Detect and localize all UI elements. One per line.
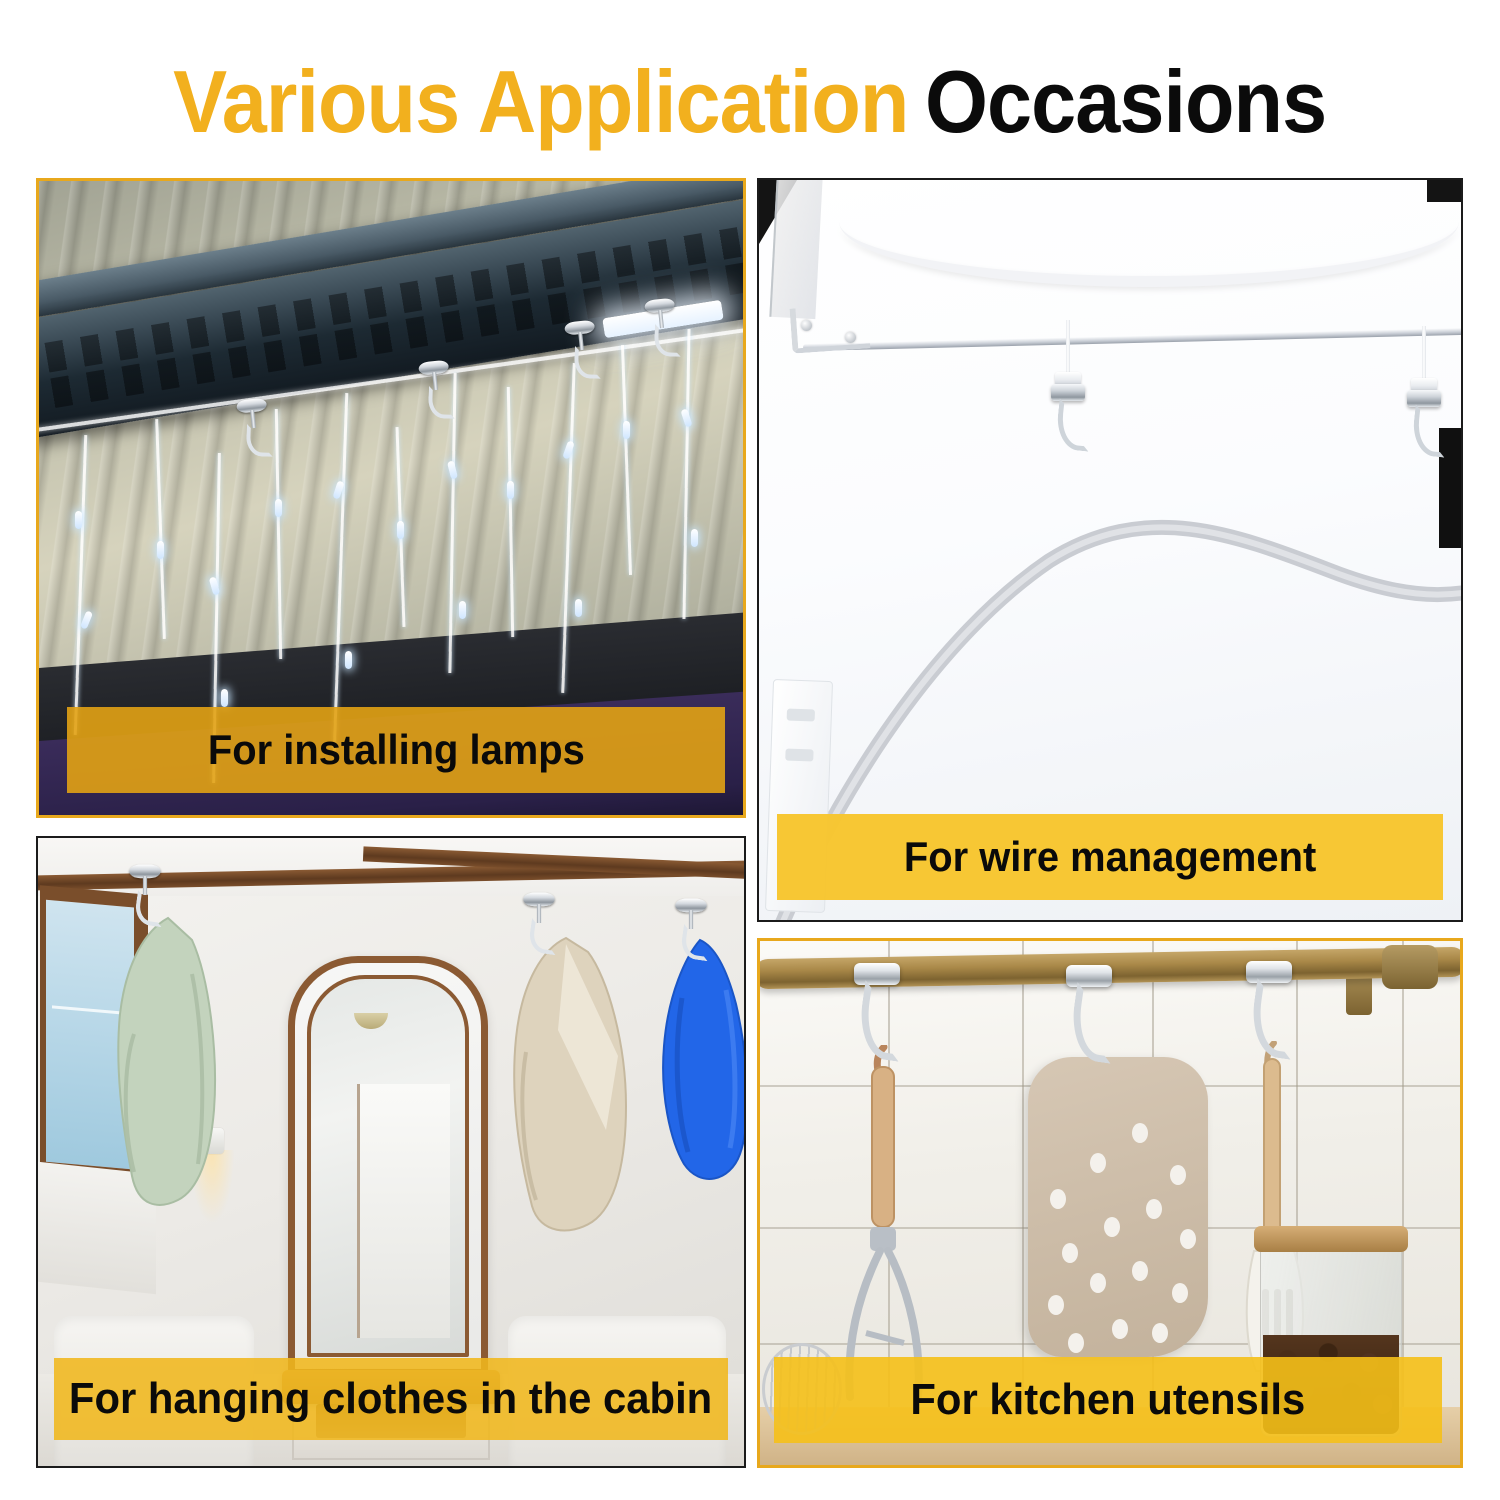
led-bulb [459, 601, 466, 619]
hook-j-curve [1410, 404, 1449, 457]
panel-hanging-clothes-cabin: For hanging clothes in the cabin [36, 836, 746, 1468]
hanging-blue-towel [652, 938, 744, 1193]
power-strip-socket [787, 709, 815, 722]
caption-wire-management: For wire management [777, 814, 1443, 900]
led-bulb [157, 541, 164, 559]
led-bulb [275, 499, 282, 517]
title-plain-text: Occasions [925, 52, 1326, 151]
magnetic-hook [854, 963, 900, 1071]
scene-white-studio [759, 180, 1461, 920]
mitt-dot [1146, 1199, 1162, 1219]
metal-tongs [838, 1045, 948, 1410]
backdrop-panel-edge [769, 180, 822, 319]
bracket-screw [801, 320, 812, 331]
caption-text: For hanging clothes in the cabin [69, 1377, 712, 1421]
page-title: Various ApplicationOccasions [0, 52, 1500, 152]
magnetic-hook [129, 865, 161, 926]
led-bulb [397, 521, 404, 539]
caption-text: For installing lamps [208, 729, 585, 771]
mitt-dot [1112, 1319, 1128, 1339]
hook-j-curve [527, 918, 560, 955]
panel-wire-management: For wire management [757, 178, 1463, 922]
led-bulb [507, 481, 514, 499]
hook-j-curve [133, 890, 166, 927]
magnetic-hook [1246, 961, 1292, 1069]
mitt-dot [1062, 1243, 1078, 1263]
caption-text: For kitchen utensils [911, 1378, 1306, 1422]
caption-text: For wire management [904, 836, 1316, 878]
mitt-dot [1048, 1295, 1064, 1315]
mitt-dot [1090, 1153, 1106, 1173]
hanging-beige-jacket [500, 934, 650, 1239]
panel-kitchen-utensils: For kitchen utensils [757, 938, 1463, 1468]
rail-end-cap [1382, 945, 1438, 989]
mitt-dot [1180, 1229, 1196, 1249]
polka-dot-oven-mitt [1028, 1057, 1208, 1357]
led-bulb [345, 651, 352, 669]
mitt-dot [1104, 1217, 1120, 1237]
mitt-dot [1132, 1123, 1148, 1143]
mitt-dot [1170, 1165, 1186, 1185]
hanging-sage-shirt [106, 914, 236, 1219]
mitt-dot [1068, 1333, 1084, 1353]
panel-installing-lamps: For installing lamps [36, 178, 746, 818]
magnetic-hook [564, 320, 600, 381]
rail-wall-mount [1346, 975, 1372, 1015]
magnetic-hook [675, 899, 707, 960]
mirror-reflection-doorway [357, 1084, 449, 1338]
hook-j-curve [428, 386, 456, 419]
hook-j-curve [654, 324, 682, 357]
mirror-reflection-ceiling-light [354, 1013, 388, 1029]
hook-j-curve [1054, 398, 1093, 451]
magnetic-hook [1407, 378, 1441, 456]
caption-installing-lamps: For installing lamps [67, 707, 725, 793]
magnetic-hook [523, 893, 555, 954]
hook-thread [1066, 320, 1070, 376]
power-strip-socket [785, 749, 813, 762]
mitt-dot [1090, 1273, 1106, 1293]
caption-kitchen-utensils: For kitchen utensils [774, 1357, 1442, 1443]
hook-j-curve [246, 424, 274, 457]
led-bulb [75, 511, 82, 529]
magnetic-hook [236, 398, 272, 459]
magnetic-hook [1051, 372, 1085, 450]
mitt-dot [1132, 1261, 1148, 1281]
hook-j-curve [574, 346, 602, 379]
led-bulb [691, 529, 698, 547]
bracket-screw [845, 332, 856, 343]
mitt-dot [1172, 1283, 1188, 1303]
led-bulb [623, 421, 630, 439]
arched-mirror [288, 956, 488, 1376]
title-accent-text: Various Application [173, 52, 908, 151]
bamboo-jar-lid [1254, 1226, 1408, 1252]
mitt-dot [1152, 1323, 1168, 1343]
mirror-inner-frame [307, 975, 469, 1357]
hook-j-curve [679, 924, 712, 961]
magnetic-hook [644, 298, 680, 359]
led-bulb [221, 689, 228, 707]
caption-hanging-clothes: For hanging clothes in the cabin [54, 1358, 728, 1440]
mitt-dot [1050, 1189, 1066, 1209]
led-bulb [575, 599, 582, 617]
hook-thread [1422, 326, 1426, 382]
magnetic-hook [418, 360, 454, 421]
magnetic-hook [1066, 965, 1112, 1073]
